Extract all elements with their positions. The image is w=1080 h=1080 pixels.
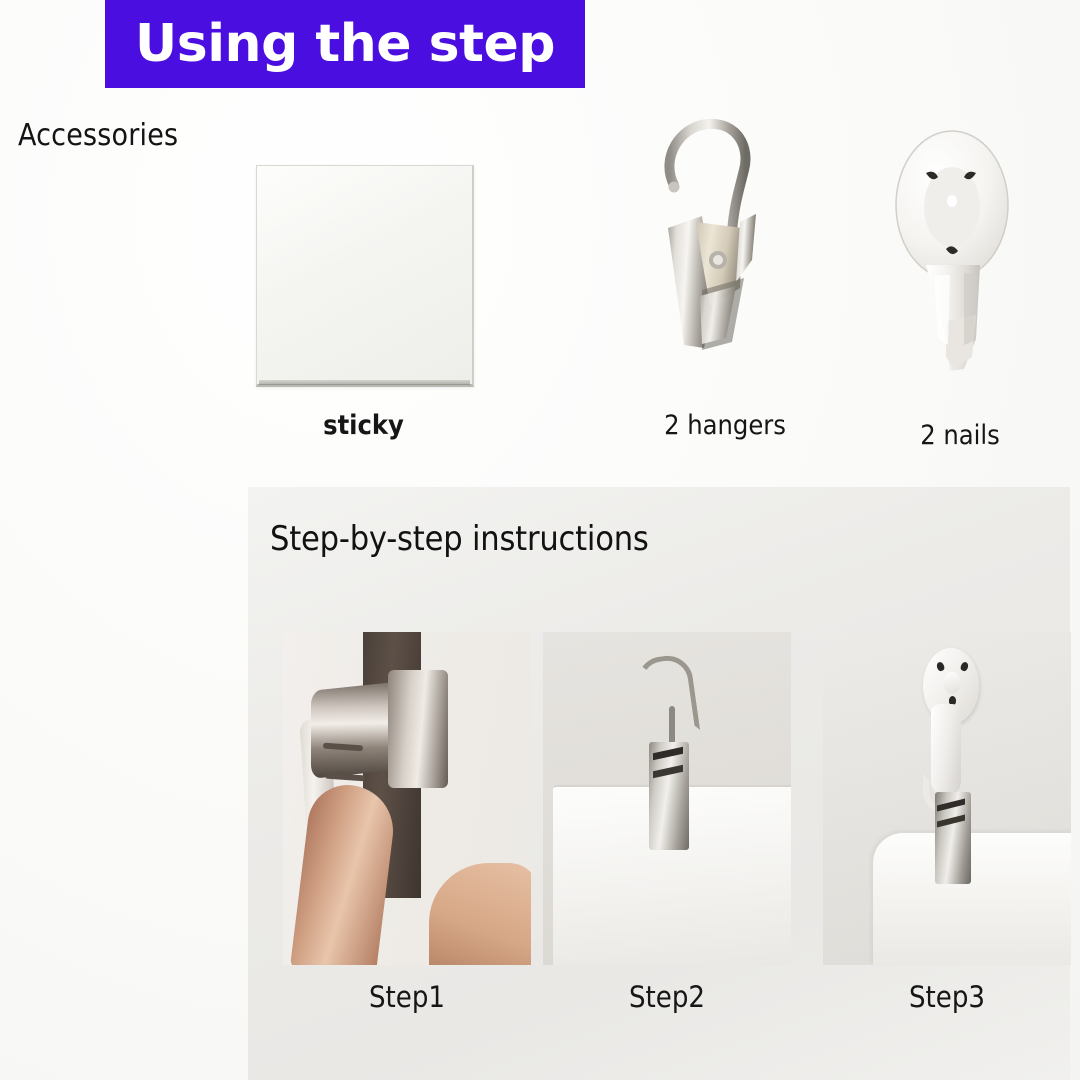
step-2-photo bbox=[543, 632, 791, 965]
wall-nail-hook-image bbox=[880, 125, 1040, 395]
wall-hook-svg bbox=[880, 125, 1040, 395]
step-2-caption: Step2 bbox=[543, 980, 791, 1014]
instruction-page: Using the step Accessories sticky bbox=[0, 0, 1080, 1080]
step-3-caption: Step3 bbox=[823, 980, 1071, 1014]
title-banner: Using the step bbox=[105, 0, 585, 88]
step-3-photo bbox=[823, 632, 1071, 965]
step-1-caption: Step1 bbox=[283, 980, 531, 1014]
step-3-clip bbox=[935, 792, 971, 884]
step-cell-1: Step1 bbox=[283, 632, 531, 965]
step-1-hammer-neck bbox=[388, 670, 448, 788]
page-title: Using the step bbox=[105, 18, 585, 70]
sticky-pad-image bbox=[256, 165, 474, 387]
accessories-row: sticky bbox=[0, 110, 1080, 460]
step-cell-3: Step3 bbox=[823, 632, 1071, 965]
steps-heading: Step-by-step instructions bbox=[270, 519, 649, 559]
wall-nail-hook-caption: 2 nails bbox=[865, 420, 1055, 451]
step-1-photo bbox=[283, 632, 531, 965]
step-2-clip bbox=[649, 742, 689, 850]
accessories-section-label: Accessories bbox=[18, 118, 178, 153]
hanger-clip-svg bbox=[640, 110, 810, 395]
step-3-hook-recess bbox=[943, 672, 961, 694]
step-3-cloth bbox=[873, 833, 1071, 965]
hanger-clip-image bbox=[640, 110, 810, 395]
hanger-clip-caption: 2 hangers bbox=[630, 410, 820, 441]
sticky-pad-caption: sticky bbox=[256, 410, 471, 441]
step-by-step-panel: Step-by-step instructions Step1 bbox=[248, 487, 1070, 1080]
step-2-hook-stem bbox=[669, 706, 675, 746]
steps-grid: Step1 Step2 bbox=[266, 632, 1056, 1052]
step-cell-2: Step2 bbox=[543, 632, 791, 965]
